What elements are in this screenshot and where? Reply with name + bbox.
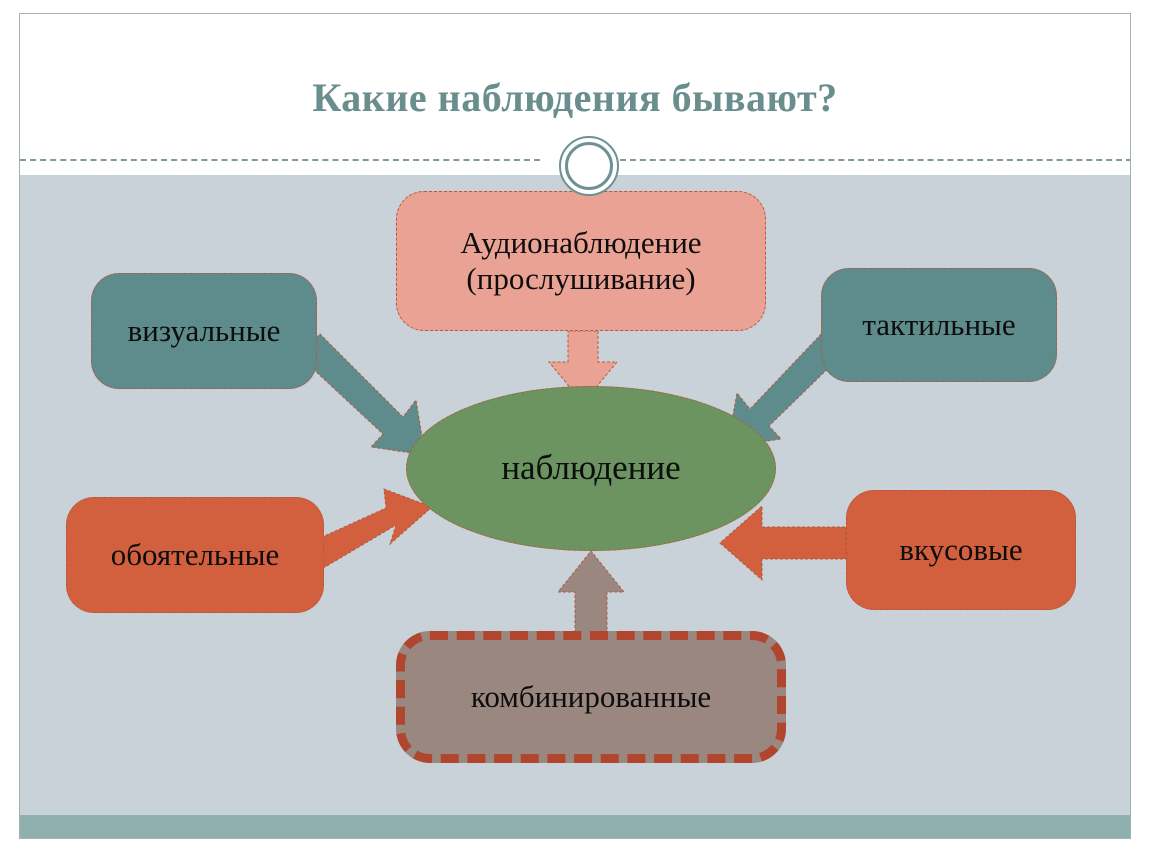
node-visual[interactable]: визуальные [91,273,317,389]
node-combined-label: комбинированные [471,679,711,715]
node-visual-label: визуальные [128,313,281,349]
slide-footer-bar [20,815,1130,839]
node-smell-label: обоятельные [111,537,280,573]
double-ring-circle-inner-icon [565,142,613,190]
node-taste-label: вкусовые [899,532,1022,568]
node-audio-label: Аудионаблюдение (прослушивание) [460,225,701,296]
title-divider-right [620,159,1131,161]
node-smell[interactable]: обоятельные [66,497,324,613]
title-divider-left [20,159,540,161]
node-tactile[interactable]: тактильные [821,268,1057,382]
node-tactile-label: тактильные [862,307,1015,343]
node-audio-label-line1: Аудионаблюдение [460,225,701,260]
node-combined[interactable]: комбинированные [396,631,786,763]
node-audio-label-line2: (прослушивание) [466,261,695,296]
node-taste[interactable]: вкусовые [846,490,1076,610]
node-center-observation[interactable]: наблюдение [406,386,776,551]
page-title: Какие наблюдения бывают? [20,74,1130,121]
node-center-label: наблюдение [501,448,680,488]
slide-canvas: Какие наблюдения бывают? Аудионаблюдение… [19,13,1131,839]
node-audio[interactable]: Аудионаблюдение (прослушивание) [396,191,766,331]
